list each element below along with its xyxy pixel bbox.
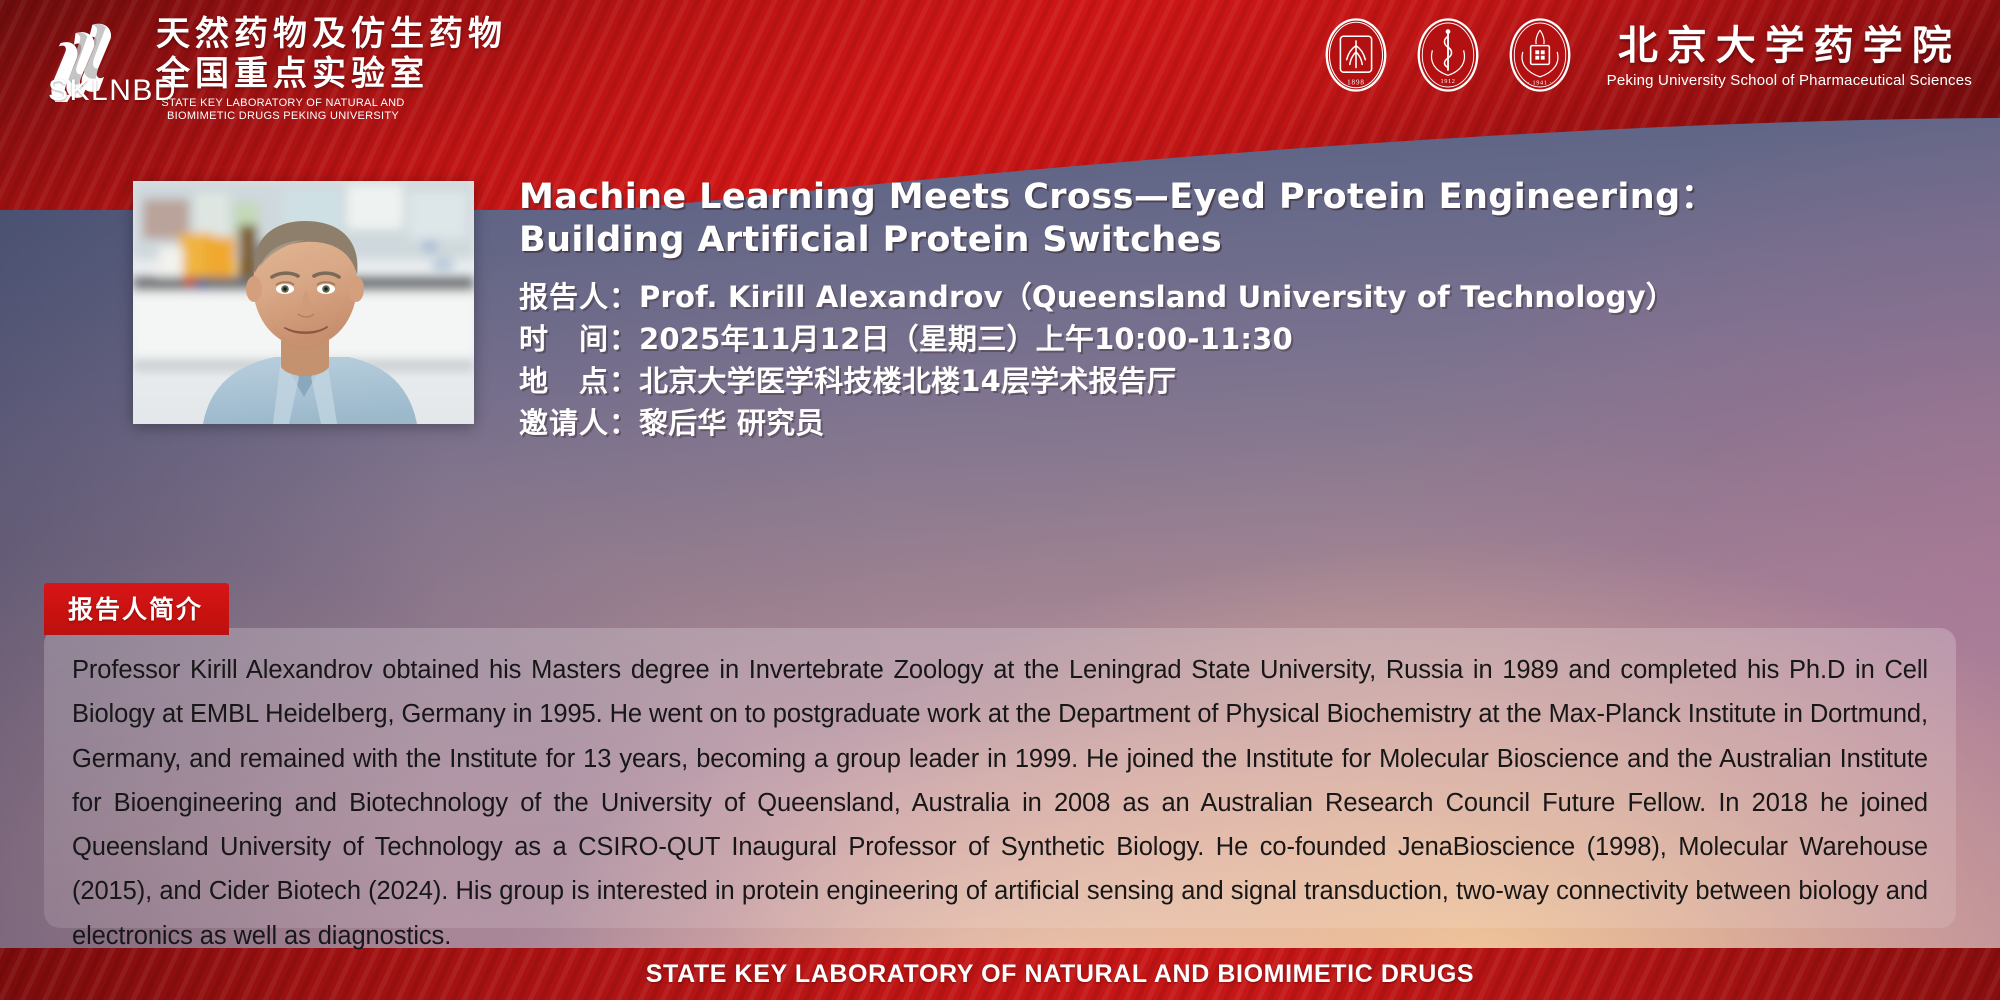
bio-text: Professor Kirill Alexandrov obtained his… xyxy=(72,648,1928,958)
venue-value: 北京大学医学科技楼北楼14层学术报告厅 xyxy=(639,364,1176,398)
talk-title: Machine Learning Meets Cross—Eyed Protei… xyxy=(519,176,1939,262)
speaker-portrait-image xyxy=(133,181,474,424)
sklnbd-wordmark: SKLNBD xyxy=(48,74,177,108)
svg-text:1898: 1898 xyxy=(1347,79,1365,87)
speaker-portrait xyxy=(133,181,474,424)
peking-university-seal-icon: 1898 xyxy=(1317,16,1395,94)
time-label: 时 间： xyxy=(519,322,639,356)
speaker-value: Prof. Kirill Alexandrov（Queensland Unive… xyxy=(639,280,1675,314)
host-value: 黎后华 研究员 xyxy=(639,406,825,440)
talk-title-line1: Machine Learning Meets Cross—Eyed Protei… xyxy=(519,176,1939,219)
pku-health-science-center-seal-icon: 1912 xyxy=(1409,16,1487,94)
bio-paragraph: Professor Kirill Alexandrov obtained his… xyxy=(72,648,1928,958)
host-label: 邀请人： xyxy=(519,406,639,440)
svg-text:1912: 1912 xyxy=(1440,78,1455,85)
time-line: 时 间：2025年11月12日（星期三）上午10:00-11:30 xyxy=(519,318,1939,360)
pku-brand-chinese: 北京大学药学院 xyxy=(1607,22,1972,70)
pku-pharmacy-brand: 北京大学药学院 Peking University School of Phar… xyxy=(1607,22,1972,89)
institution-logos: 1898 1912 · 1941 · xyxy=(1317,16,1972,94)
venue-line: 地 点：北京大学医学科技楼北楼14层学术报告厅 xyxy=(519,360,1939,402)
pku-brand-english: Peking University School of Pharmaceutic… xyxy=(1607,72,1972,89)
pku-school-of-pharmaceutical-sciences-seal-icon: · 1941 · xyxy=(1501,16,1579,94)
footer-lab-name: STATE KEY LABORATORY OF NATURAL AND BIOM… xyxy=(646,960,1474,989)
talk-title-line2: Building Artificial Protein Switches xyxy=(519,219,1939,262)
talk-details: Machine Learning Meets Cross—Eyed Protei… xyxy=(519,176,1939,444)
speaker-label: 报告人： xyxy=(519,280,639,314)
seminar-poster: 天然药物及仿生药物 全国重点实验室 STATE KEY LABORATORY O… xyxy=(0,0,2000,1000)
lab-name-cn-line1: 天然药物及仿生药物 xyxy=(156,14,507,54)
bio-section-tab: 报告人简介 xyxy=(44,583,229,635)
host-line: 邀请人：黎后华 研究员 xyxy=(519,402,1939,444)
lab-name-chinese: 天然药物及仿生药物 全国重点实验室 STATE KEY LABORATORY O… xyxy=(156,14,507,123)
time-value: 2025年11月12日（星期三）上午10:00-11:30 xyxy=(639,322,1293,356)
lab-name-cn-line2: 全国重点实验室 xyxy=(156,54,507,94)
venue-label: 地 点： xyxy=(519,364,639,398)
svg-text:· 1941 ·: · 1941 · xyxy=(1527,80,1552,87)
lab-name-english: STATE KEY LABORATORY OF NATURAL AND BIOM… xyxy=(158,97,408,123)
speaker-line: 报告人：Prof. Kirill Alexandrov（Queensland U… xyxy=(519,276,1939,318)
